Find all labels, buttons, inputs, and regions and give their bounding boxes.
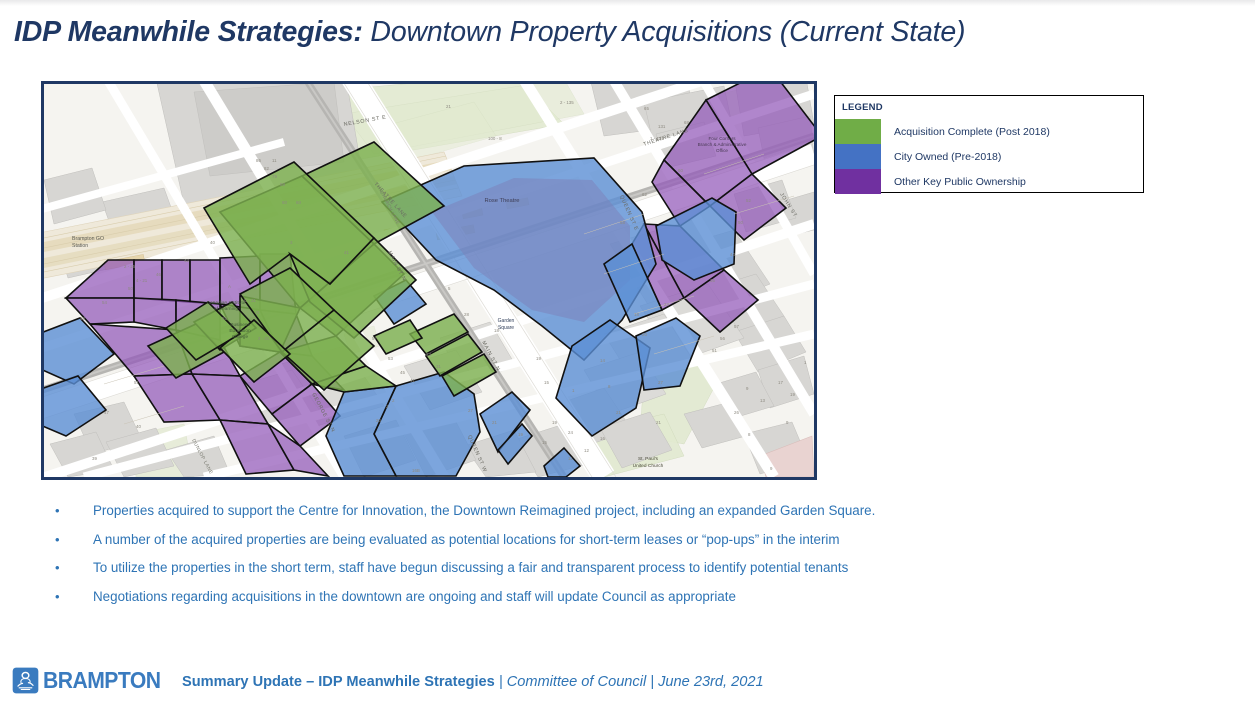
svg-text:31: 31 (436, 364, 441, 369)
svg-text:50: 50 (128, 286, 133, 291)
svg-text:13: 13 (630, 476, 635, 477)
legend-heading: LEGEND (842, 102, 883, 113)
svg-text:13: 13 (760, 398, 765, 403)
svg-text:52: 52 (746, 198, 751, 203)
svg-text:19: 19 (536, 356, 541, 361)
svg-text:19: 19 (518, 432, 523, 437)
svg-text:27: 27 (468, 408, 473, 413)
svg-text:39: 39 (92, 456, 97, 461)
svg-text:15: 15 (544, 380, 549, 385)
page-title-bold: IDP Meanwhile Strategies: (14, 16, 363, 48)
svg-text:United Church: United Church (633, 463, 664, 469)
svg-text:2 - 25: 2 - 25 (124, 264, 136, 269)
svg-text:44: 44 (730, 252, 735, 257)
downtown-property-map[interactable]: Brampton GO Station NELSON ST E THEATRE … (41, 81, 817, 480)
svg-text:Four Corners: Four Corners (708, 136, 736, 141)
svg-text:54: 54 (102, 300, 107, 305)
list-item: • To utilize the properties in the short… (52, 560, 1172, 589)
svg-text:D: D (256, 310, 259, 315)
svg-text:St. Paul's: St. Paul's (638, 456, 659, 462)
svg-text:41: 41 (344, 250, 349, 255)
svg-text:79: 79 (272, 174, 277, 179)
svg-text:27: 27 (658, 380, 663, 385)
map-legend: LEGEND Acquisition Complete (Post 2018) … (834, 95, 1144, 193)
svg-text:4 - 21: 4 - 21 (136, 278, 148, 283)
svg-text:18: 18 (634, 312, 639, 317)
legend-swatch-blue (835, 144, 881, 169)
list-item: • Negotiations regarding acquisitions in… (52, 589, 1172, 618)
svg-text:24: 24 (664, 302, 669, 307)
svg-text:Rose Theatre: Rose Theatre (484, 198, 519, 204)
bullet-marker-icon: • (52, 560, 93, 576)
svg-text:60: 60 (282, 200, 287, 205)
page-title: IDP Meanwhile Strategies: Downtown Prope… (14, 16, 1214, 49)
svg-text:50: 50 (738, 220, 743, 225)
legend-label-acquisition-complete: Acquisition Complete (Post 2018) (894, 126, 1050, 138)
svg-text:53: 53 (388, 356, 393, 361)
legend-swatch-green (835, 119, 881, 144)
svg-text:47: 47 (104, 410, 109, 415)
footer-title: Summary Update – IDP Meanwhile Strategie… (182, 674, 495, 690)
svg-text:11: 11 (272, 158, 277, 163)
svg-text:56: 56 (720, 336, 725, 341)
svg-text:C - 21: C - 21 (244, 298, 257, 303)
svg-text:58: 58 (80, 316, 85, 321)
svg-text:36: 36 (710, 278, 715, 283)
svg-text:55: 55 (222, 316, 227, 321)
svg-text:131: 131 (658, 124, 666, 129)
bullet-list: • Properties acquired to support the Cen… (52, 503, 1172, 617)
svg-text:33: 33 (426, 352, 431, 357)
svg-text:28: 28 (464, 312, 469, 317)
bullet-marker-icon: • (52, 503, 93, 519)
brampton-rose-icon (12, 667, 39, 694)
map-canvas: Brampton GO Station NELSON ST E THEATRE … (44, 84, 814, 477)
svg-text:60: 60 (678, 168, 683, 173)
bullet-text: Negotiations regarding acquisitions in t… (93, 589, 736, 605)
list-item: • A number of the acquired properties ar… (52, 532, 1172, 561)
svg-text:82: 82 (264, 166, 269, 171)
svg-text:51: 51 (712, 348, 717, 353)
svg-text:69: 69 (280, 182, 285, 187)
bullet-marker-icon: • (52, 532, 93, 548)
svg-text:100 - 8: 100 - 8 (488, 136, 502, 141)
bullet-text: Properties acquired to support the Centr… (93, 503, 875, 519)
svg-text:Canadian Institute: Canadian Institute (207, 300, 246, 306)
footer-separator-2: | (646, 674, 658, 690)
svg-text:16: 16 (600, 436, 605, 441)
legend-row-other-public[interactable]: Other Key Public Ownership (835, 169, 1143, 194)
footer-caption: Summary Update – IDP Meanwhile Strategie… (182, 674, 764, 690)
svg-text:60: 60 (296, 200, 301, 205)
svg-text:45: 45 (400, 370, 405, 375)
page-title-regular: Downtown Property Acquisitions (Current … (363, 16, 966, 48)
brampton-wordmark: BRAMPTON (43, 667, 160, 694)
svg-text:24: 24 (568, 430, 573, 435)
svg-text:14: 14 (600, 358, 605, 363)
svg-text:Education: Education (229, 328, 251, 334)
svg-text:46: 46 (156, 272, 161, 277)
svg-text:62: 62 (642, 192, 647, 197)
svg-text:19: 19 (790, 392, 795, 397)
legend-label-city-owned: City Owned (Pre-2018) (894, 151, 1001, 163)
brampton-logo: BRAMPTON (12, 667, 174, 694)
list-item: • Properties acquired to support the Cen… (52, 503, 1172, 532)
svg-text:of Learning: of Learning (214, 306, 238, 312)
legend-row-acquisition-complete[interactable]: Acquisition Complete (Post 2018) (835, 119, 1143, 144)
bullet-text: To utilize the properties in the short t… (93, 560, 848, 576)
slide-footer: BRAMPTON Summary Update – IDP Meanwhile … (0, 662, 1255, 708)
svg-text:Station: Station (72, 243, 88, 249)
svg-text:Business: Business (230, 322, 250, 328)
svg-text:65: 65 (644, 106, 649, 111)
svg-text:Brampton GO: Brampton GO (72, 236, 104, 242)
svg-text:College: College (232, 334, 249, 340)
svg-text:2 - 21: 2 - 21 (258, 336, 270, 341)
legend-label-other-public: Other Key Public Ownership (894, 176, 1026, 188)
svg-text:51: 51 (134, 380, 139, 385)
svg-text:B: B (254, 286, 257, 291)
legend-row-city-owned[interactable]: City Owned (Pre-2018) (835, 144, 1143, 169)
svg-text:21: 21 (616, 410, 621, 415)
svg-text:15: 15 (542, 440, 547, 445)
svg-text:16B: 16B (412, 468, 420, 473)
svg-text:A: A (228, 284, 231, 289)
svg-text:1 - 131: 1 - 131 (650, 136, 664, 141)
footer-meeting: Committee of Council (507, 674, 647, 690)
bullet-marker-icon: • (52, 589, 93, 605)
svg-text:40: 40 (136, 424, 141, 429)
svg-text:86: 86 (256, 158, 261, 163)
footer-separator-1: | (495, 674, 507, 690)
footer-date: June 23rd, 2021 (658, 674, 763, 690)
svg-text:58: 58 (620, 220, 625, 225)
svg-text:57: 57 (372, 336, 377, 341)
legend-rows: Acquisition Complete (Post 2018) City Ow… (835, 119, 1143, 194)
svg-text:21: 21 (492, 420, 497, 425)
legend-swatch-purple (835, 169, 881, 194)
svg-text:68: 68 (684, 120, 689, 125)
svg-text:20: 20 (642, 332, 647, 337)
svg-text:Garden: Garden (498, 318, 515, 324)
svg-text:40: 40 (210, 240, 215, 245)
svg-text:203 - 14: 203 - 14 (410, 476, 427, 477)
svg-text:20: 20 (376, 418, 381, 423)
svg-text:Office: Office (716, 148, 728, 153)
svg-text:57: 57 (734, 324, 739, 329)
svg-text:Square: Square (498, 325, 514, 331)
svg-text:19: 19 (552, 420, 557, 425)
svg-text:42: 42 (184, 258, 189, 263)
window-top-strip (0, 0, 1255, 6)
svg-text:41: 41 (410, 378, 415, 383)
svg-text:21: 21 (446, 104, 451, 109)
svg-text:12: 12 (584, 448, 589, 453)
svg-text:Branch & Administrative: Branch & Administrative (698, 142, 747, 147)
bullet-text: A number of the acquired properties are … (93, 532, 840, 548)
svg-text:21: 21 (656, 420, 661, 425)
svg-text:18: 18 (494, 328, 499, 333)
svg-text:26: 26 (734, 410, 739, 415)
svg-text:17: 17 (778, 380, 783, 385)
svg-text:11: 11 (568, 456, 573, 461)
svg-text:2 - 135: 2 - 135 (560, 100, 574, 105)
